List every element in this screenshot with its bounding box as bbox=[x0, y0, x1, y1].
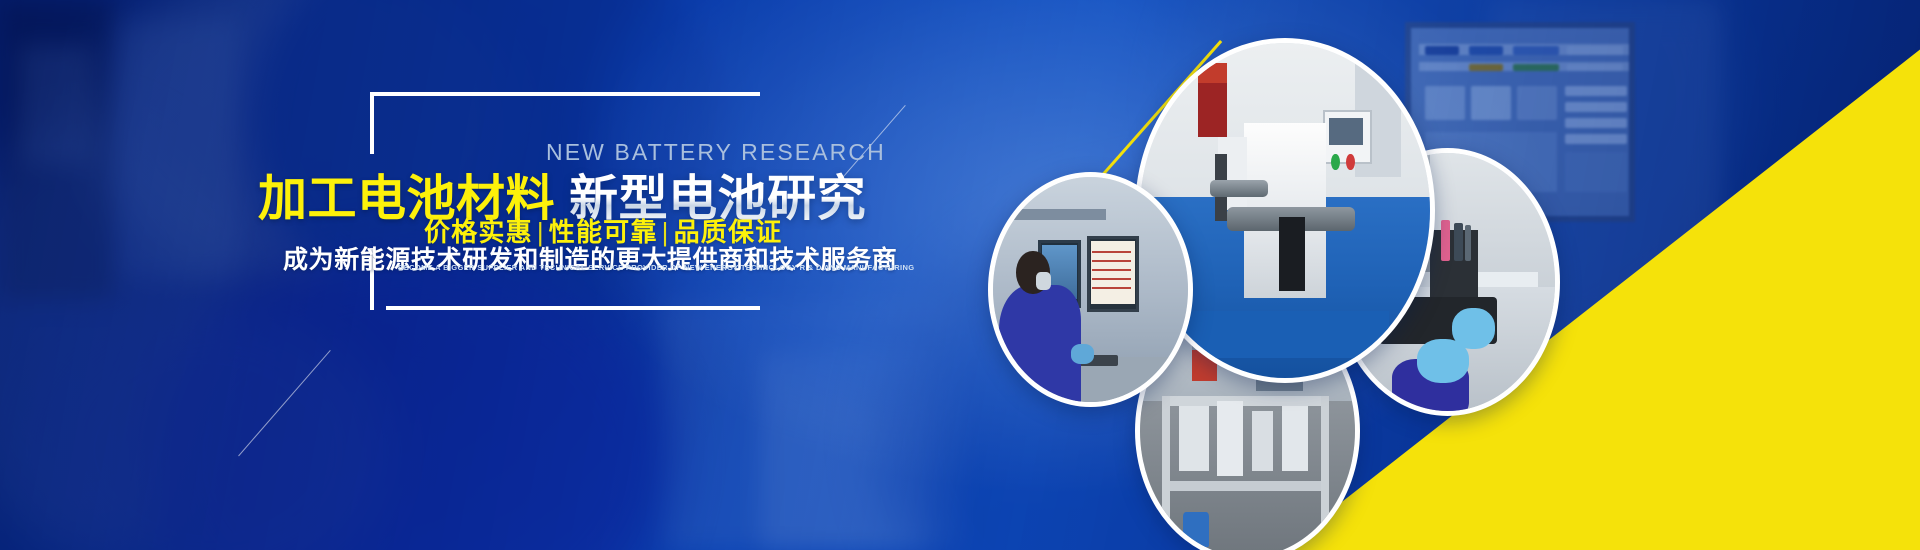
photo-cluster bbox=[960, 0, 1680, 550]
headline-block: NEW BATTERY RESEARCH 加工电池材料 新型电池研究 价格实惠|… bbox=[0, 0, 960, 550]
hero-banner: NEW BATTERY RESEARCH 加工电池材料 新型电池研究 价格实惠|… bbox=[0, 0, 1920, 550]
english-subtitle-text: BECOME A BIGGER SUPPLIER AND TECHNICAL S… bbox=[398, 263, 914, 272]
photo-worker-workstation bbox=[993, 177, 1188, 402]
photo-bubble-left bbox=[988, 172, 1193, 407]
